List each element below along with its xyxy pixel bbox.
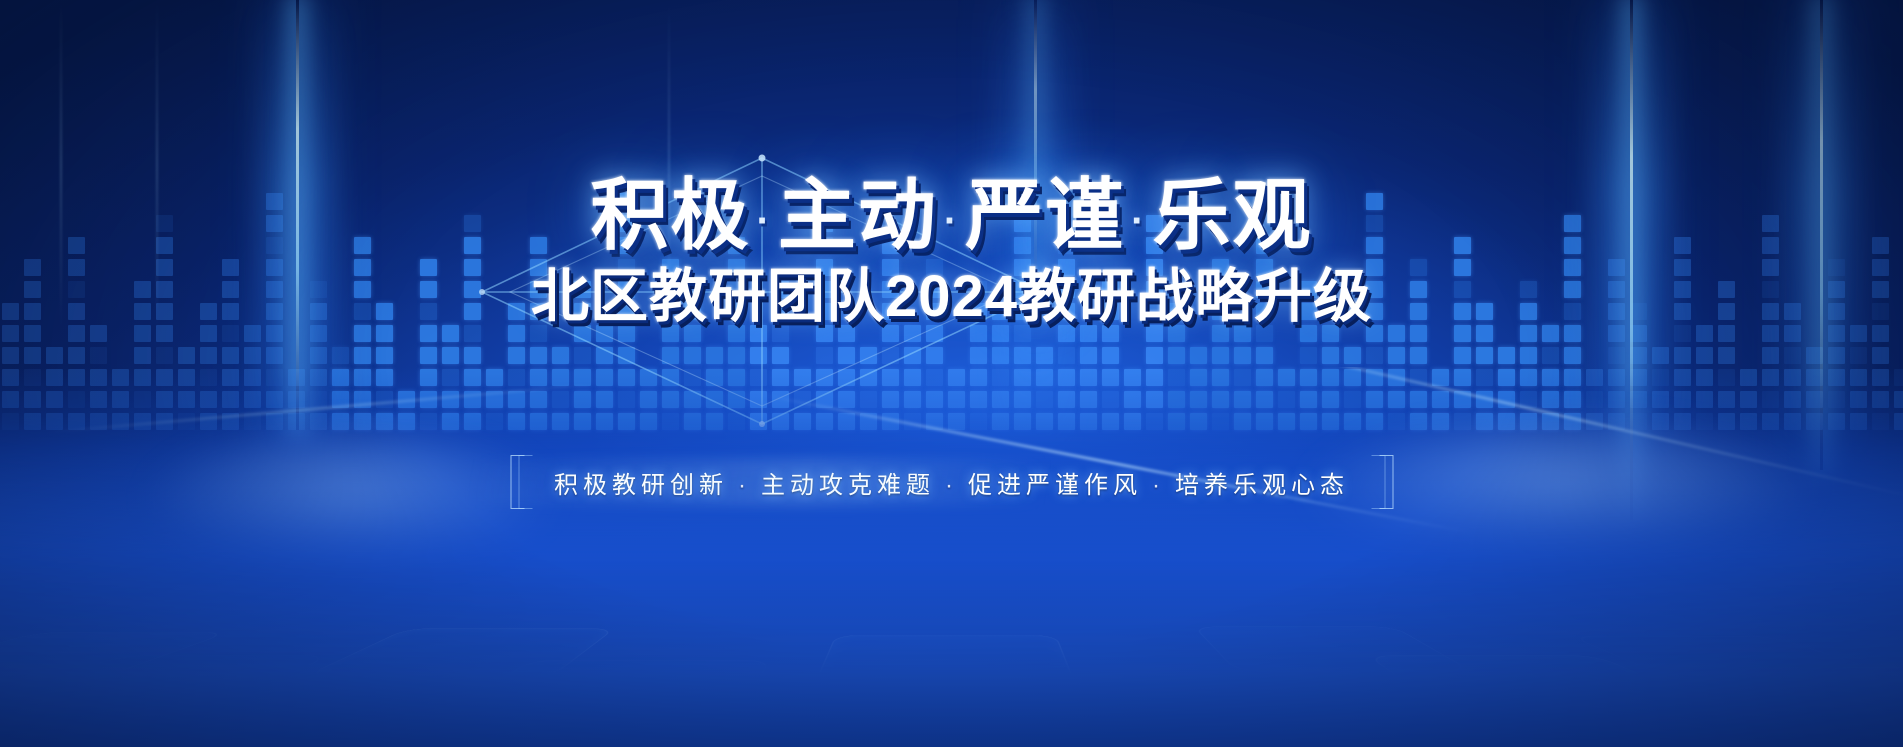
- tagline-item: 培养乐观心态: [1175, 472, 1349, 499]
- headline-separator: ·: [1131, 199, 1146, 243]
- tagline-bar: 积极教研创新·主动攻克难题·促进严谨作风·培养乐观心态: [510, 455, 1393, 509]
- tagline-separator: ·: [945, 472, 958, 499]
- headline-word: 严谨: [965, 171, 1125, 259]
- tagline-item: 促进严谨作风: [968, 472, 1142, 499]
- banner-content: 积极·主动·严谨·乐观 北区教研团队2024教研战略升级 积极教研创新·主动攻克…: [0, 0, 1903, 747]
- headline-separator: ·: [944, 199, 959, 243]
- tagline-item: 主动攻克难题: [761, 472, 935, 499]
- headline-separator: ·: [756, 199, 771, 243]
- headline-word: 主动: [778, 171, 938, 259]
- tagline-item: 积极教研创新: [554, 472, 728, 499]
- banner-subtitle: 北区教研团队2024教研战略升级: [0, 268, 1903, 326]
- banner-headline: 积极·主动·严谨·乐观: [0, 176, 1903, 254]
- bracket-right-icon: [1371, 455, 1393, 509]
- banner-canvas: 积极·主动·严谨·乐观 北区教研团队2024教研战略升级 积极教研创新·主动攻克…: [0, 0, 1903, 747]
- bracket-left-icon: [510, 455, 532, 509]
- headline-word: 积极: [590, 171, 750, 259]
- headline-word: 乐观: [1153, 171, 1313, 259]
- tagline-text: 积极教研创新·主动攻克难题·促进严谨作风·培养乐观心态: [532, 465, 1371, 500]
- tagline-separator: ·: [738, 472, 751, 499]
- tagline-separator: ·: [1152, 472, 1165, 499]
